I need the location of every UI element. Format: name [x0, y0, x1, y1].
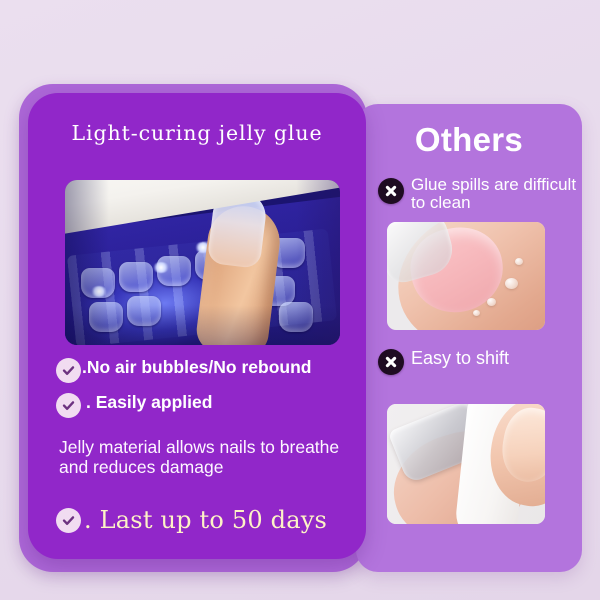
feature-item-label: .No air bubbles/No rebound [82, 357, 311, 377]
con-item-glue-spills: Glue spills are difficult to clean [378, 176, 582, 212]
feature-item-lasting: . Last up to 50 days [56, 506, 327, 534]
feature-note: Jelly material allows nails to breathe a… [59, 438, 359, 477]
photo-spill-blob [515, 258, 523, 265]
others-title: Others [356, 121, 582, 159]
con-item-easy-to-shift: Easy to shift [378, 347, 509, 375]
check-icon [56, 393, 81, 418]
nail-shifting-photo [387, 404, 545, 524]
feature-item-label: . Easily applied [86, 392, 212, 412]
product-card: Light-curing jelly glue [28, 93, 366, 559]
photo-spill-blob [473, 310, 480, 316]
feature-item-no-air-bubbles: .No air bubbles/No rebound [56, 357, 356, 383]
photo-spill-blob [505, 278, 518, 289]
glue-spill-photo [387, 222, 545, 330]
con-item-label: Easy to shift [411, 349, 509, 368]
check-icon [56, 358, 81, 383]
feature-item-easily-applied: . Easily applied [56, 392, 356, 418]
photo-vignette [65, 180, 340, 345]
uv-lamp-curing-photo [65, 180, 340, 345]
x-icon [378, 349, 404, 375]
check-icon [56, 508, 81, 533]
con-item-label: Glue spills are difficult to clean [411, 176, 582, 212]
feature-list: .No air bubbles/No rebound . Easily appl… [56, 357, 356, 427]
others-panel: Others Glue spills are difficult to clea… [356, 104, 582, 572]
x-icon [378, 178, 404, 204]
feature-item-label: . Last up to 50 days [84, 506, 327, 534]
photo-spill-blob [487, 298, 496, 306]
product-title: Light-curing jelly glue [28, 121, 366, 145]
infographic-canvas: Others Glue spills are difficult to clea… [0, 0, 600, 600]
